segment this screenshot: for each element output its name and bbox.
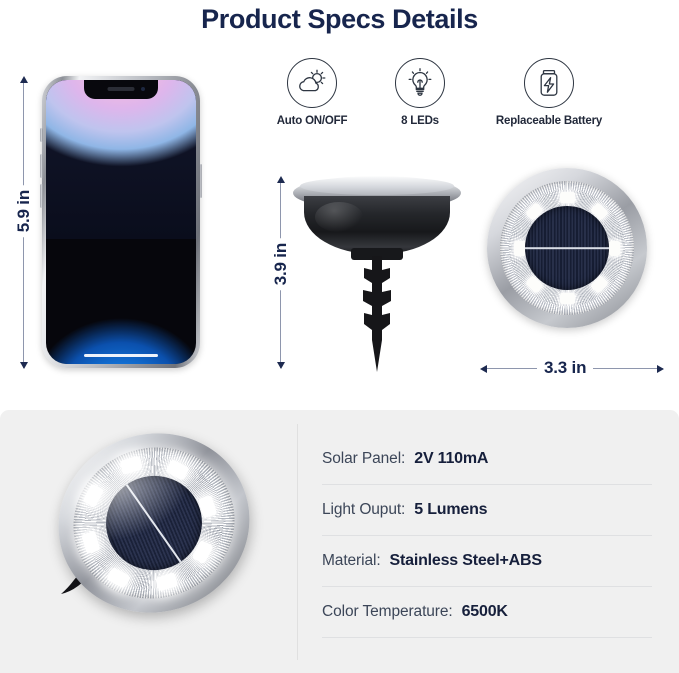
side-view-dimension-label: 3.9 in bbox=[271, 238, 291, 290]
page-title: Product Specs Details bbox=[0, 4, 679, 35]
spec-table: Solar Panel: 2V 110mA Light Ouput: 5 Lum… bbox=[322, 434, 652, 638]
spec-label: Solar Panel: bbox=[322, 450, 405, 468]
spec-label: Light Ouput: bbox=[322, 501, 405, 519]
spec-row: Light Ouput: 5 Lumens bbox=[322, 485, 652, 536]
volume-down-button bbox=[40, 184, 43, 208]
solar-panel-busbar bbox=[525, 247, 609, 249]
solar-panel bbox=[525, 206, 609, 290]
product-hero-photo bbox=[42, 432, 254, 628]
spec-value: Stainless Steel+ABS bbox=[390, 552, 542, 570]
solar-panel-busbar bbox=[120, 475, 188, 570]
led bbox=[609, 241, 620, 256]
spec-value: 6500K bbox=[462, 603, 508, 621]
phone-dimension-label: 5.9 in bbox=[14, 185, 34, 237]
feature-auto-on-off: Auto ON/OFF bbox=[258, 58, 366, 127]
spec-label: Material: bbox=[322, 552, 381, 570]
led bbox=[514, 241, 525, 256]
battery-bolt-icon bbox=[524, 58, 574, 108]
lightbulb-icon bbox=[395, 58, 445, 108]
phone-notch bbox=[84, 80, 158, 99]
side-view-dimension-arrow-bottom bbox=[277, 362, 285, 369]
wallpaper-bottom-gradient bbox=[46, 188, 196, 364]
light-housing bbox=[36, 410, 272, 636]
steel-top-surface bbox=[300, 177, 454, 195]
housing-highlight bbox=[315, 202, 363, 232]
top-view-dimension-label: 3.3 in bbox=[537, 358, 593, 378]
spec-value: 5 Lumens bbox=[414, 501, 487, 519]
feature-label: 8 LEDs bbox=[401, 115, 439, 127]
home-indicator bbox=[84, 354, 158, 358]
top-view-dimension-arrow-right bbox=[657, 365, 664, 373]
phone-dimension-arrow-bottom bbox=[20, 362, 28, 369]
phone-dimension-arrow-top bbox=[20, 76, 28, 83]
front-camera-icon bbox=[141, 87, 145, 91]
spec-label: Color Temperature: bbox=[322, 603, 453, 621]
volume-up-button bbox=[40, 154, 43, 178]
power-button bbox=[200, 164, 203, 198]
led bbox=[560, 192, 575, 203]
led bbox=[560, 293, 575, 304]
feature-label: Replaceable Battery bbox=[496, 115, 602, 127]
sun-cloud-icon bbox=[287, 58, 337, 108]
mute-switch bbox=[40, 128, 43, 142]
earpiece-speaker bbox=[108, 87, 135, 91]
phone-screen bbox=[46, 80, 196, 364]
feature-8-leds: 8 LEDs bbox=[366, 58, 474, 127]
spec-row: Solar Panel: 2V 110mA bbox=[322, 434, 652, 485]
solar-light-top-view bbox=[487, 168, 647, 328]
vertical-divider bbox=[297, 424, 298, 660]
spec-row: Color Temperature: 6500K bbox=[322, 587, 652, 638]
top-view-dimension-arrow-left bbox=[480, 365, 487, 373]
side-view-dimension-arrow-top bbox=[277, 176, 285, 183]
feature-replaceable-battery: Replaceable Battery bbox=[474, 58, 624, 127]
smartphone-illustration bbox=[42, 76, 200, 368]
feature-label: Auto ON/OFF bbox=[277, 115, 348, 127]
ground-stake bbox=[345, 256, 409, 372]
specs-panel: Solar Panel: 2V 110mA Light Ouput: 5 Lum… bbox=[0, 410, 679, 673]
feature-icons-row: Auto ON/OFF 8 LEDs bbox=[258, 58, 658, 138]
spec-value: 2V 110mA bbox=[414, 450, 488, 468]
spec-row: Material: Stainless Steel+ABS bbox=[322, 536, 652, 587]
solar-light-side-view bbox=[293, 176, 461, 372]
